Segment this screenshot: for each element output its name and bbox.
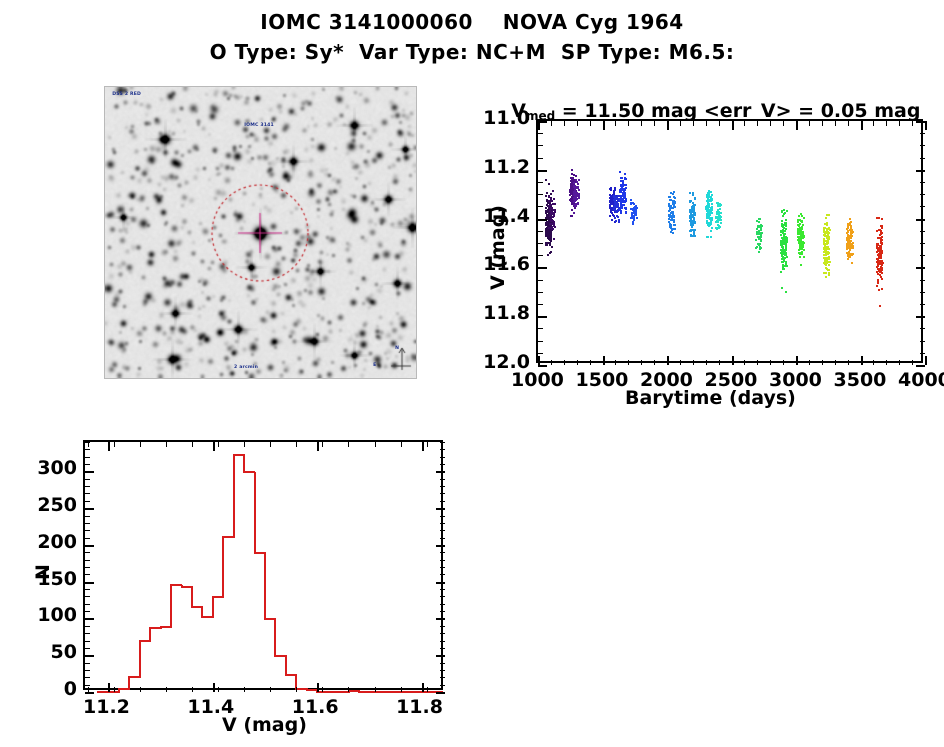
x-major-tick-top [925,121,927,130]
data-point [546,244,548,246]
data-point [575,197,577,199]
data-point [826,259,828,261]
finder-annotation-2: 2 arcmin [234,364,258,370]
data-point [803,256,805,258]
y-minor-tick-right [440,464,445,465]
data-point [852,231,854,233]
data-point [785,291,787,293]
data-point [785,219,787,221]
y-major-tick [85,655,94,657]
data-point [670,199,672,201]
x-major-tick-top [603,121,605,130]
data-point [551,211,553,213]
x-tick-label: 1500 [576,369,626,391]
x-minor-tick-top [401,442,402,447]
data-point [547,254,549,256]
y-major-tick-right [436,545,445,547]
data-point [800,213,802,215]
data-point [879,256,881,258]
y-minor-tick [538,243,543,244]
data-point [617,203,619,205]
data-point [708,192,710,194]
y-minor-tick [85,589,90,590]
data-point [782,230,784,232]
data-point [710,223,712,225]
data-point [828,236,830,238]
x-major-tick-top [732,121,734,130]
data-point [575,203,577,205]
data-point [553,238,555,240]
data-point [548,200,550,202]
data-point [824,223,826,225]
data-point [880,232,882,234]
data-point [718,214,720,216]
data-point [573,186,575,188]
data-point [828,248,830,250]
histogram-riser [139,641,141,678]
y-minor-tick-right [440,574,445,575]
data-point [849,222,851,224]
y-major-tick [538,365,547,367]
x-minor-tick [719,360,720,365]
x-minor-tick-top [809,121,810,126]
data-point [826,242,828,244]
data-point [577,203,579,205]
x-minor-tick-top [218,442,219,447]
data-point [878,217,880,219]
data-point [553,198,555,200]
y-major-tick [85,545,94,547]
data-point [668,203,670,205]
star-field-image [105,87,416,378]
x-minor-tick-top [680,121,681,126]
x-major-tick-top [667,121,669,130]
x-minor-tick-top [577,121,578,126]
data-point [575,179,577,181]
data-point [548,183,550,185]
x-major-tick [538,356,540,365]
data-point [785,228,787,230]
y-minor-tick-right [440,596,445,597]
data-point [614,217,616,219]
y-major-tick-right [436,471,445,473]
data-point [553,209,555,211]
histogram-riser [233,455,235,537]
x-minor-tick-top [375,442,376,447]
data-point [711,209,713,211]
data-point [783,213,785,215]
y-minor-tick [85,648,90,649]
data-point [571,209,573,211]
data-point [578,179,580,181]
data-point [620,177,622,179]
x-major-tick [925,356,927,365]
x-minor-tick-top [641,121,642,126]
data-point [755,247,757,249]
y-minor-tick [538,304,543,305]
x-tick-label: 4000 [898,369,944,391]
data-point [673,221,675,223]
x-minor-tick-top [628,121,629,126]
data-point [828,264,830,266]
data-point [609,215,611,217]
y-minor-tick-right [440,611,445,612]
data-point [826,224,828,226]
data-point [828,274,830,276]
x-minor-tick-top [192,442,193,447]
x-major-tick [603,356,605,365]
x-major-tick-top [317,442,319,451]
y-minor-tick-right [920,158,925,159]
x-minor-tick [296,687,297,692]
data-point [824,227,826,229]
data-point [551,220,553,222]
data-point [800,248,802,250]
data-point [847,242,849,244]
data-point [549,204,551,206]
data-point [550,251,552,253]
data-point [849,229,851,231]
y-tick-label: 250 [19,494,77,516]
data-point [625,184,627,186]
data-point [783,227,785,229]
y-major-tick-right [436,655,445,657]
y-minor-tick-right [920,194,925,195]
y-minor-tick-right [440,516,445,517]
data-point [690,214,692,216]
histogram-riser [254,472,256,553]
data-point [620,202,622,204]
data-point [880,255,882,257]
data-point [781,237,783,239]
y-minor-tick-right [920,292,925,293]
data-point [823,247,825,249]
histogram-y-axis-title: N [32,564,54,580]
x-minor-tick [886,360,887,365]
data-point [803,235,805,237]
data-point [577,183,579,185]
data-point [570,198,572,200]
y-minor-tick-right [920,255,925,256]
data-point [618,221,620,223]
data-point [798,225,800,227]
y-major-tick-right [916,316,925,318]
data-point [570,187,572,189]
data-point [707,224,709,226]
x-minor-tick-top [348,442,349,447]
page-title: IOMC 3141000060 NOVA Cyg 1964 [0,8,944,36]
data-point [879,305,881,307]
y-minor-tick [538,292,543,293]
data-point [800,264,802,266]
x-minor-tick [577,360,578,365]
y-minor-tick-right [440,663,445,664]
data-point [552,190,554,192]
y-minor-tick [85,670,90,671]
data-point [720,222,722,224]
data-point [672,193,674,195]
y-minor-tick [85,604,90,605]
data-point [760,229,762,231]
x-minor-tick-top [835,121,836,126]
y-tick-label: 11.2 [472,156,530,178]
data-point [578,189,580,191]
data-point [612,214,614,216]
y-minor-tick [85,457,90,458]
data-point [611,203,613,205]
histogram-riser [243,455,245,473]
x-minor-tick-top [783,121,784,126]
data-point [624,189,626,191]
x-minor-tick-top [693,121,694,126]
data-point [718,219,720,221]
x-minor-tick [693,360,694,365]
x-minor-tick-top [719,121,720,126]
data-point [710,191,712,193]
y-minor-tick-right [440,486,445,487]
data-point [624,173,626,175]
y-minor-tick-right [440,626,445,627]
data-point [694,214,696,216]
y-minor-tick-right [920,243,925,244]
data-point [847,225,849,227]
y-minor-tick [538,341,543,342]
x-minor-tick-top [140,442,141,447]
data-point [693,209,695,211]
y-minor-tick [538,182,543,183]
data-point [625,178,627,180]
y-minor-tick [85,626,90,627]
histogram-riser [191,587,193,608]
y-minor-tick [85,685,90,686]
y-tick-label: 300 [19,457,77,479]
y-minor-tick [538,255,543,256]
data-point [578,195,580,197]
data-point [781,250,783,252]
y-minor-tick [85,677,90,678]
x-minor-tick-top [848,121,849,126]
data-point [825,252,827,254]
x-minor-tick-top [770,121,771,126]
data-point [828,258,830,260]
data-point [671,229,673,231]
y-minor-tick [85,641,90,642]
y-minor-tick [85,663,90,664]
data-point [802,233,804,235]
data-point [549,223,551,225]
data-point [760,232,762,234]
data-point [689,220,691,222]
data-point [674,228,676,230]
data-point [715,217,717,219]
data-point [550,235,552,237]
y-minor-tick-right [920,133,925,134]
data-point [826,222,828,224]
y-minor-tick [85,567,90,568]
data-point [633,219,635,221]
data-point [881,278,883,280]
data-point [615,220,617,222]
x-minor-tick [680,360,681,365]
data-point [710,230,712,232]
data-point [719,208,721,210]
y-major-tick-right [436,692,445,694]
data-point [877,237,879,239]
y-minor-tick [538,158,543,159]
y-minor-tick [538,231,543,232]
x-major-tick [422,683,424,692]
data-point [690,229,692,231]
y-minor-tick-right [440,677,445,678]
x-major-tick-top [422,442,424,451]
y-tick-label: 50 [19,641,77,663]
x-minor-tick-top [744,121,745,126]
finder-annotation-1: IOMC 3141 [244,122,274,128]
x-minor-tick-top [706,121,707,126]
data-point [621,195,623,197]
data-point [694,221,696,223]
x-minor-tick [140,687,141,692]
y-minor-tick-right [920,328,925,329]
data-point [620,188,622,190]
data-point [550,193,552,195]
data-point [876,217,878,219]
y-minor-tick-right [920,280,925,281]
finder-annotation-0: DSS 2 RED [112,91,141,97]
histogram-x-axis-title: V (mag) [222,714,307,736]
histogram-riser [274,619,276,657]
data-point [573,212,575,214]
x-minor-tick [744,360,745,365]
x-minor-tick [590,360,591,365]
y-tick-label: 11.0 [472,107,530,129]
data-point [673,191,675,193]
magnitude-histogram-plot [83,440,443,690]
y-minor-tick [85,516,90,517]
finder-annotation-4: E [373,362,376,368]
data-point [850,232,852,234]
data-point [798,249,800,251]
data-point [882,262,884,264]
dss-finder-chart: DSS 2 REDIOMC 31412 arcminNE [104,86,417,379]
data-point [759,243,761,245]
data-point [715,221,717,223]
data-point [716,228,718,230]
data-point [673,224,675,226]
data-point [635,213,637,215]
data-point [850,236,852,238]
x-tick-label: 11.2 [81,696,131,718]
data-point [694,229,696,231]
data-point [674,197,676,199]
x-major-tick-top [796,121,798,130]
data-point [798,241,800,243]
data-point [691,226,693,228]
data-point [549,242,551,244]
data-point [620,210,622,212]
data-point [690,217,692,219]
y-minor-tick-right [920,353,925,354]
data-point [710,207,712,209]
data-point [797,219,799,221]
data-point [825,217,827,219]
histogram-riser [212,597,214,617]
x-minor-tick [912,360,913,365]
data-point [631,214,633,216]
data-point [720,204,722,206]
x-minor-tick [809,360,810,365]
data-point [780,271,782,273]
data-point [881,225,883,227]
y-minor-tick-right [440,442,445,443]
data-point [709,213,711,215]
data-point [880,245,882,247]
y-minor-tick [538,206,543,207]
data-point [851,262,853,264]
data-point [782,267,784,269]
data-point [624,207,626,209]
data-point [785,247,787,249]
y-minor-tick [538,353,543,354]
y-minor-tick [85,493,90,494]
data-point [610,189,612,191]
data-point [694,198,696,200]
data-point [620,205,622,207]
data-point [876,285,878,287]
data-point [783,253,785,255]
data-point [623,204,625,206]
data-point [711,203,713,205]
y-major-tick-right [916,219,925,221]
data-point [720,212,722,214]
light-curve-y-axis-title: V (mag) [487,205,509,290]
x-minor-tick-top [564,121,565,126]
x-minor-tick [401,687,402,692]
data-point [571,173,573,175]
data-point [823,229,825,231]
data-point [881,288,883,290]
y-minor-tick-right [440,523,445,524]
x-minor-tick-top [551,121,552,126]
x-major-tick [667,356,669,365]
histogram-riser [222,537,224,597]
data-point [618,219,620,221]
y-tick-label: 0 [19,678,77,700]
y-major-tick-right [436,508,445,510]
x-minor-tick-top [322,442,323,447]
y-minor-tick [85,442,90,443]
data-point [880,260,882,262]
y-minor-tick-right [920,145,925,146]
histogram-riser [285,656,287,675]
data-point [877,279,879,281]
data-point [876,271,878,273]
data-point [802,242,804,244]
data-point [849,240,851,242]
data-point [622,182,624,184]
y-minor-tick-right [440,560,445,561]
data-point [632,217,634,219]
data-point [548,227,550,229]
data-point [876,245,878,247]
light-curve-x-axis-title: Barytime (days) [625,387,796,409]
x-minor-tick-top [244,442,245,447]
data-point [847,258,849,260]
data-point [786,265,788,267]
data-point [781,220,783,222]
x-minor-tick [770,360,771,365]
data-point [674,202,676,204]
